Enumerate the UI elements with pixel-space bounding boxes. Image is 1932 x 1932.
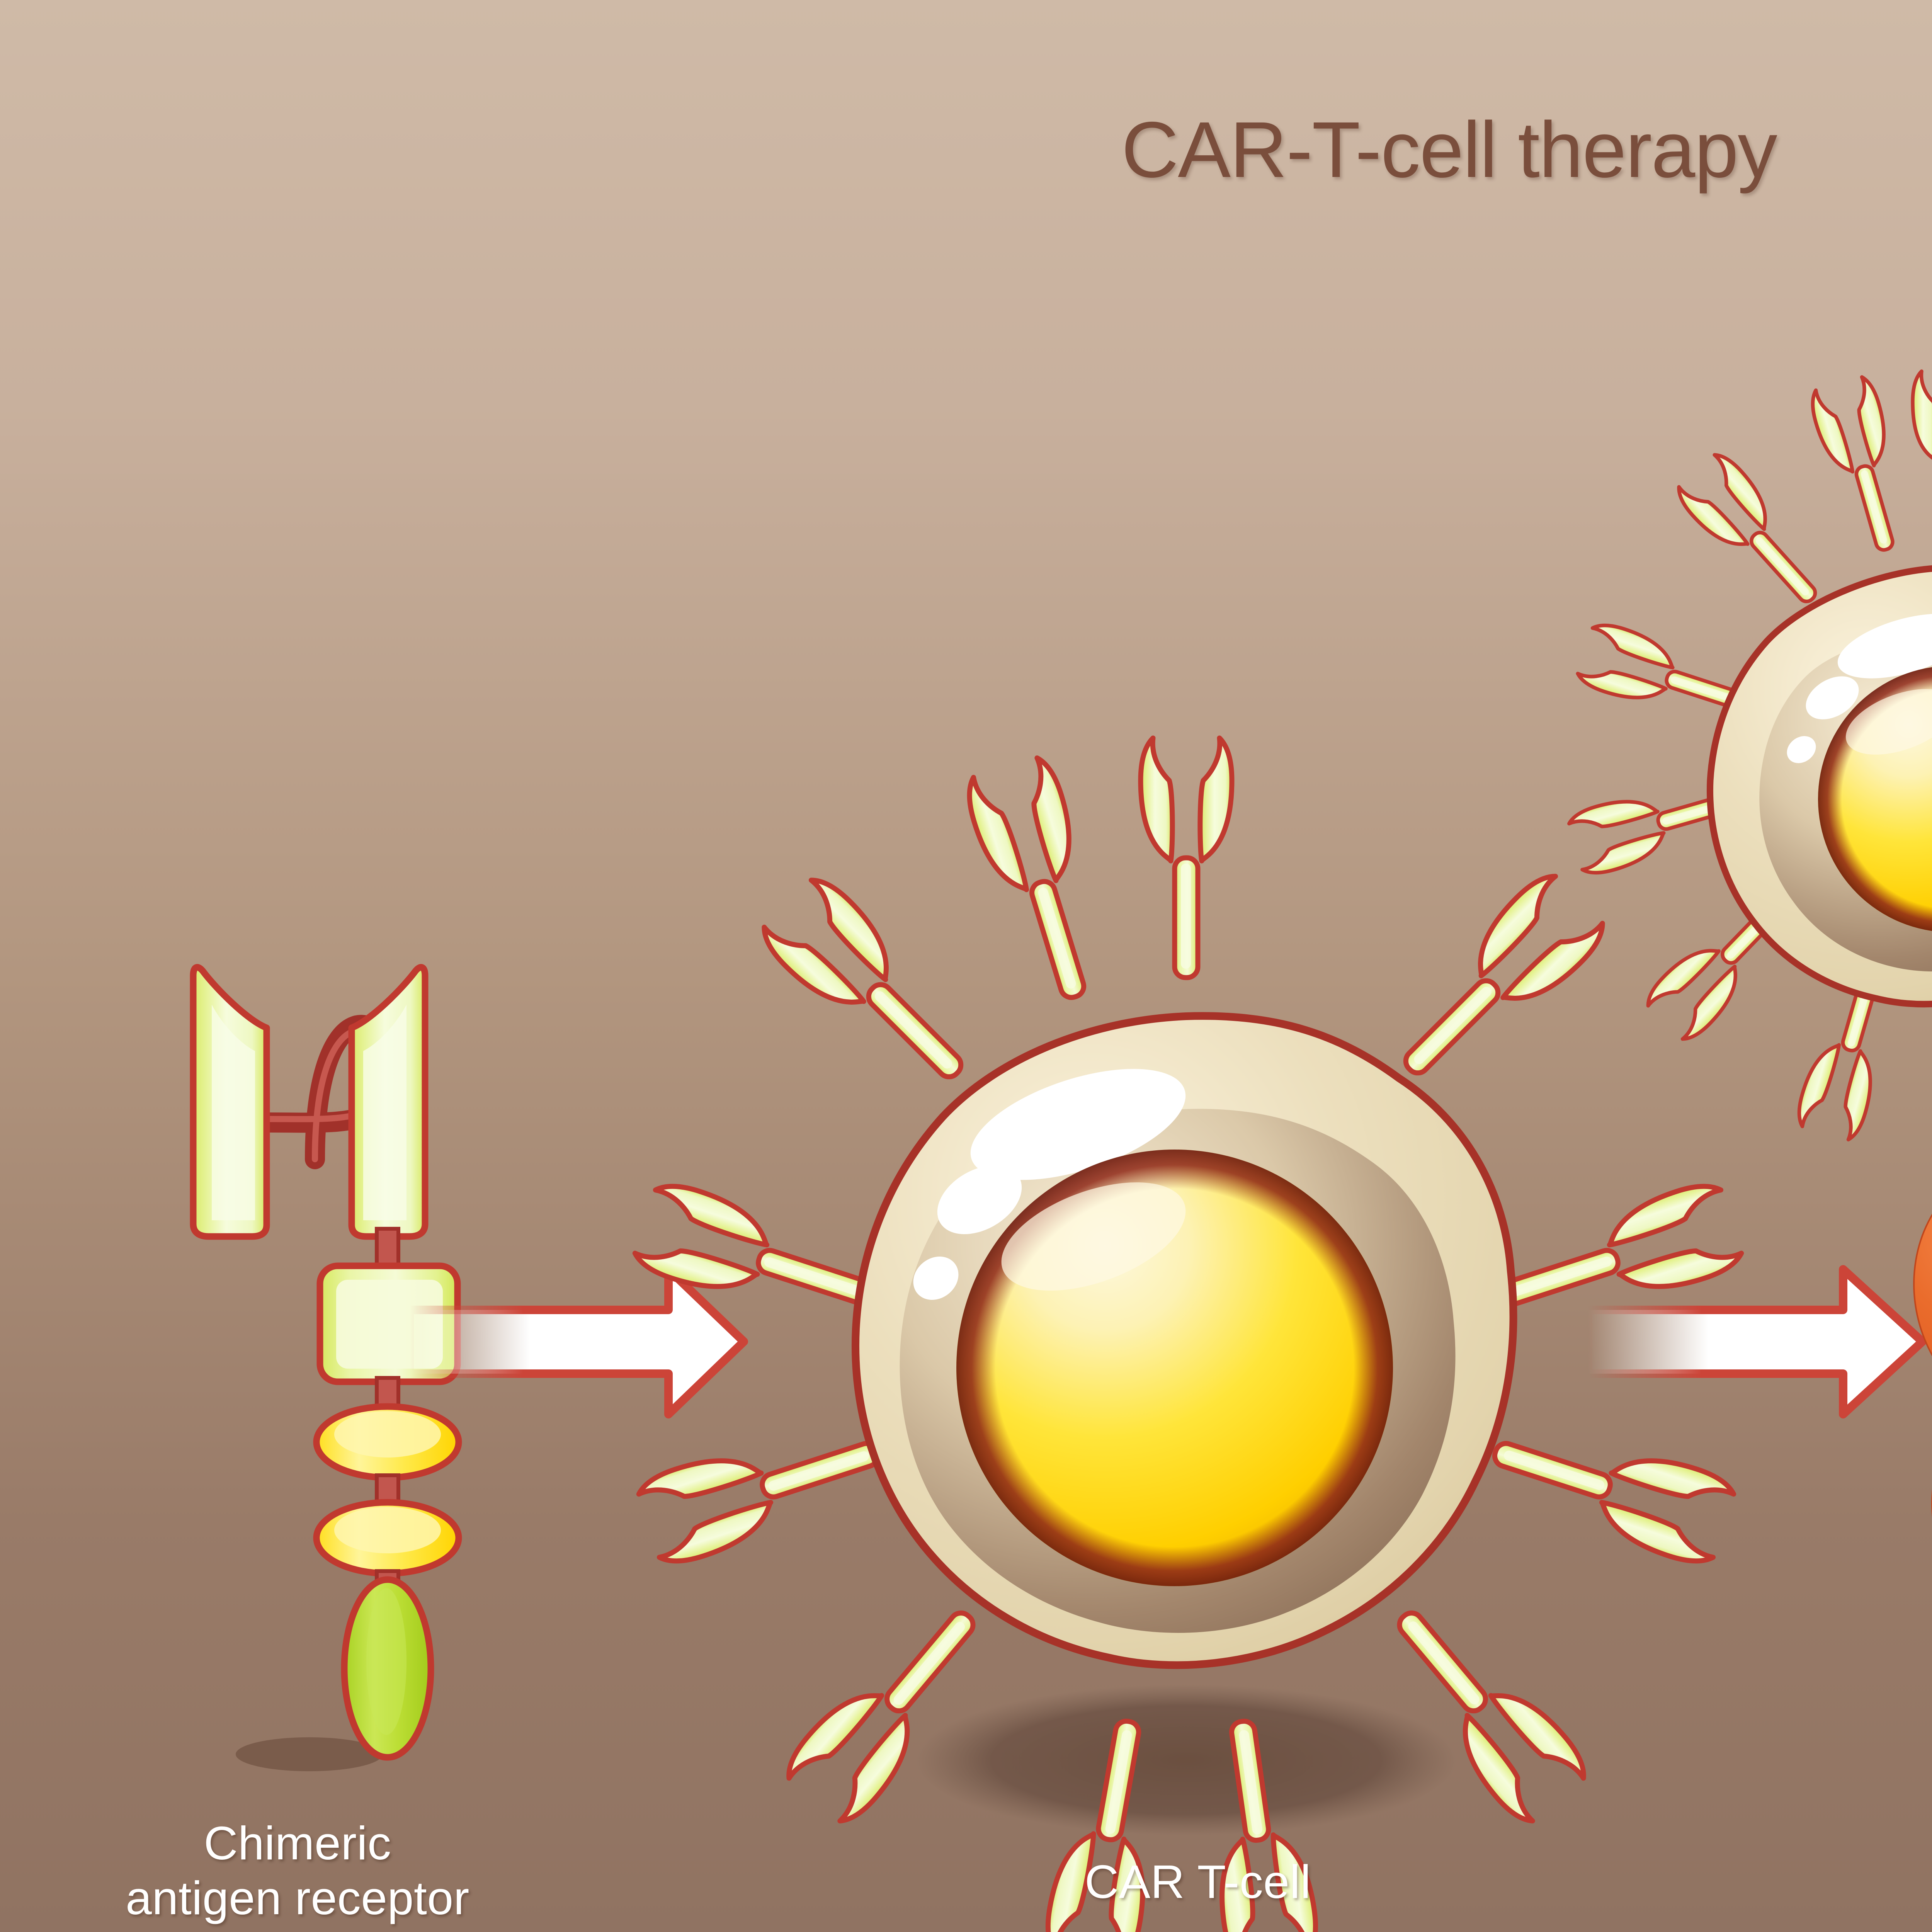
illustration-canvas: CAR-T-cell therapy Chimeric antigen rece… <box>0 0 1932 1932</box>
tcell-ground-shadow <box>916 1685 1457 1835</box>
label-chimeric-antigen-receptor: Chimeric antigen receptor <box>46 1816 549 1925</box>
car-t-cell-therapy-illustration <box>0 0 1932 1932</box>
page-title: CAR-T-cell therapy <box>0 104 1932 196</box>
label-car-t-cell: CAR T-cell <box>985 1855 1410 1910</box>
